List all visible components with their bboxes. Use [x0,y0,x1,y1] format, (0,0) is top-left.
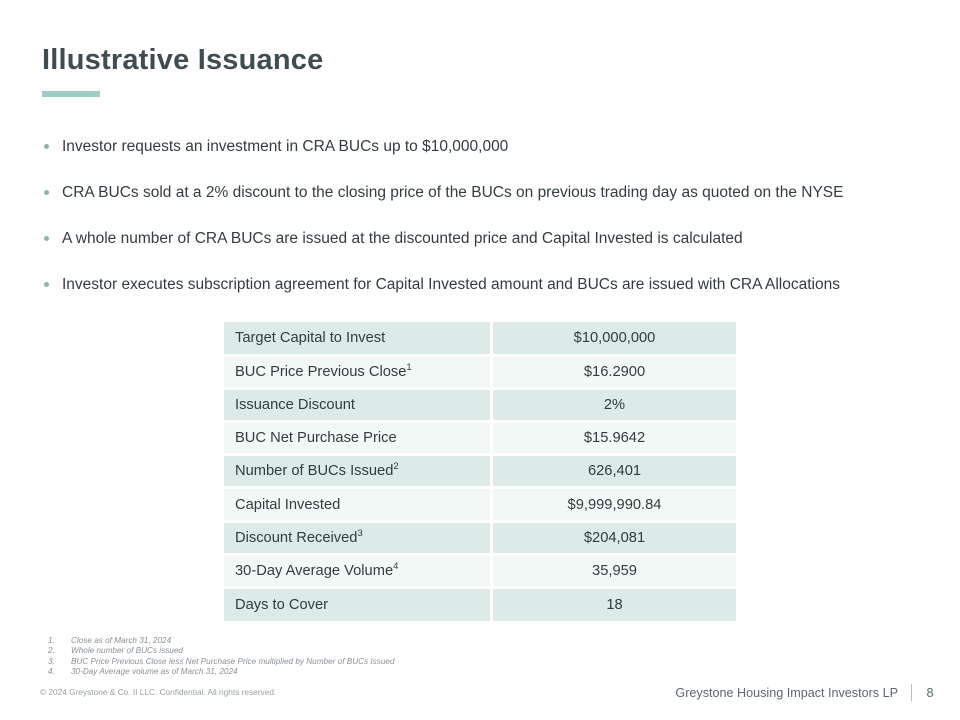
table-cell-label: Capital Invested [224,488,492,521]
table-row: Issuance Discount2% [224,388,736,421]
bullet-text: A whole number of CRA BUCs are issued at… [62,230,743,247]
footnote-number: 3. [48,657,71,667]
footnote-text: 30-Day Average volume as of March 31, 20… [71,667,238,677]
bullet-marker-icon [44,190,49,195]
bullet-item: Investor requests an investment in CRA B… [41,134,911,160]
table-label-text: Target Capital to Invest [235,330,385,346]
table-cell-value: $9,999,990.84 [492,488,737,521]
footnote-item: 4.30-Day Average volume as of March 31, … [48,667,395,677]
bullet-text: Investor requests an investment in CRA B… [62,138,508,155]
metrics-table-body: Target Capital to Invest$10,000,000BUC P… [224,322,736,621]
table-label-text: Issuance Discount [235,397,355,413]
footnote-marker: 2 [393,461,398,472]
bullet-list: Investor requests an investment in CRA B… [41,134,911,318]
bullet-marker-icon [44,144,49,149]
table-label-text: Days to Cover [235,597,328,613]
table-cell-label: Issuance Discount [224,388,492,421]
footnote-text: BUC Price Previous Close less Net Purcha… [71,657,395,667]
table-label-text: BUC Net Purchase Price [235,430,397,446]
bullet-marker-icon [44,236,49,241]
bullet-item: Investor executes subscription agreement… [41,272,911,298]
table-cell-label: 30-Day Average Volume4 [224,554,492,587]
footer-divider [911,684,912,701]
metrics-table: Target Capital to Invest$10,000,000BUC P… [224,322,736,621]
footer-right: Greystone Housing Impact Investors LP 8 [675,684,935,701]
slide-title: Illustrative Issuance [42,44,323,77]
table-cell-label: Number of BUCs Issued2 [224,455,492,488]
table-cell-value: $16.2900 [492,355,737,388]
table-row: BUC Net Purchase Price$15.9642 [224,422,736,455]
footnote-item: 1.Close as of March 31, 2024 [48,636,395,646]
footnote-number: 1. [48,636,71,646]
footnote-item: 2.Whole number of BUCs issued [48,646,395,656]
table-row: Capital Invested$9,999,990.84 [224,488,736,521]
table-row: Target Capital to Invest$10,000,000 [224,322,736,355]
table-cell-value: 2% [492,388,737,421]
table-row: Number of BUCs Issued2626,401 [224,455,736,488]
bullet-text: CRA BUCs sold at a 2% discount to the cl… [62,184,843,201]
footnote-text: Whole number of BUCs issued [71,646,183,656]
table-cell-value: 35,959 [492,554,737,587]
table-label-text: BUC Price Previous Close [235,364,406,380]
table-cell-value: 626,401 [492,455,737,488]
table-row: 30-Day Average Volume435,959 [224,554,736,587]
table-cell-value: $15.9642 [492,422,737,455]
table-cell-label: Target Capital to Invest [224,322,492,355]
footnote-item: 3.BUC Price Previous Close less Net Purc… [48,657,395,667]
bullet-item: A whole number of CRA BUCs are issued at… [41,226,911,252]
bullet-item: CRA BUCs sold at a 2% discount to the cl… [41,180,911,206]
table-cell-label: BUC Net Purchase Price [224,422,492,455]
bullet-marker-icon [44,282,49,287]
bullet-text: Investor executes subscription agreement… [62,276,840,293]
footnote-text: Close as of March 31, 2024 [71,636,171,646]
footnote-number: 4. [48,667,71,677]
footer-entity: Greystone Housing Impact Investors LP [675,686,898,700]
footnote-marker: 1 [406,362,411,373]
table-row: Days to Cover18 [224,588,736,621]
table-cell-value: $10,000,000 [492,322,737,355]
table-cell-label: Discount Received3 [224,521,492,554]
table-cell-value: 18 [492,588,737,621]
table-cell-value: $204,081 [492,521,737,554]
footnote-marker: 3 [357,528,362,539]
table-cell-label: BUC Price Previous Close1 [224,355,492,388]
table-row: Discount Received3$204,081 [224,521,736,554]
table-cell-label: Days to Cover [224,588,492,621]
table-label-text: Capital Invested [235,497,340,513]
footnote-marker: 4 [393,561,398,572]
footer-page-number: 8 [925,686,935,700]
title-accent-bar [42,91,100,97]
footnote-number: 2. [48,646,71,656]
table-label-text: 30-Day Average Volume [235,563,393,579]
footer-copyright: © 2024 Greystone & Co. II LLC. Confident… [40,687,276,697]
table-label-text: Number of BUCs Issued [235,463,393,479]
footnotes: 1.Close as of March 31, 20242.Whole numb… [48,636,395,678]
table-row: BUC Price Previous Close1$16.2900 [224,355,736,388]
table-label-text: Discount Received [235,530,357,546]
